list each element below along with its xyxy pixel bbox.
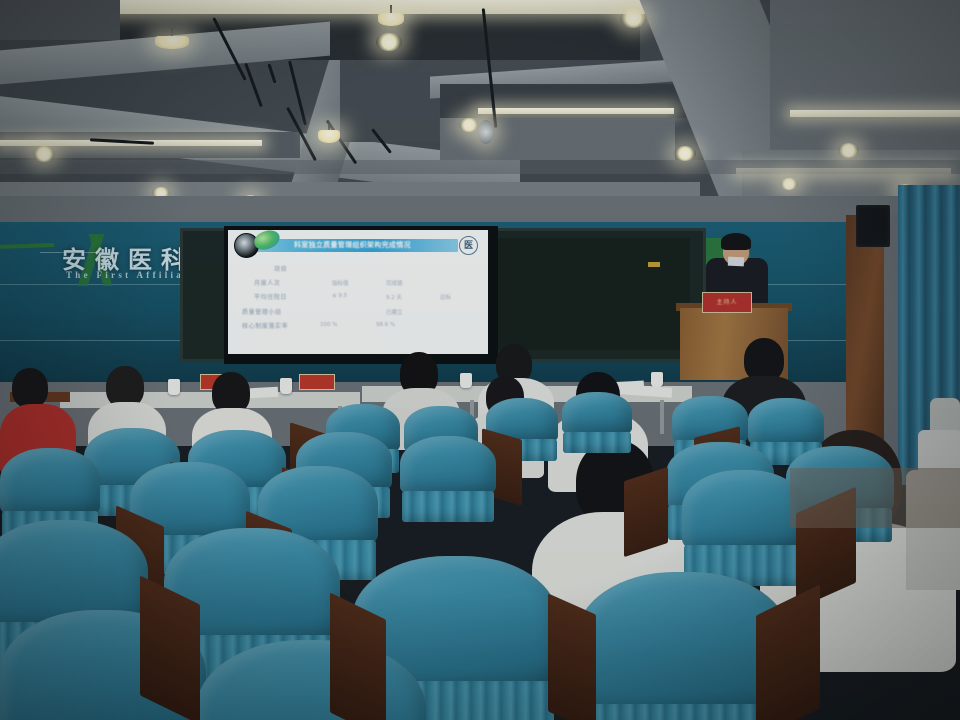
- ceiling-downlight: [838, 143, 859, 158]
- chalk-tray-marker: [648, 262, 660, 267]
- ceiling-downlight: [33, 146, 55, 162]
- slide-row-label: 平均住院日: [254, 292, 287, 301]
- projection-screen: 科室独立质量管理组织架构完成情况 医 项目 月度人次 指标值 完成值 平均住院日…: [224, 226, 498, 364]
- ceiling-downlight: [674, 146, 696, 161]
- ceiling-downlight: [376, 33, 402, 51]
- attendee-head: [12, 368, 48, 408]
- slide-row-label: 月度人次: [254, 278, 280, 287]
- podium-nameplate: 主持人: [702, 292, 752, 313]
- slide-cell: 达标: [440, 293, 451, 301]
- slide-logo-right-icon: 医: [459, 236, 478, 255]
- table-leg: [660, 400, 664, 434]
- slide-cell: 9.2 天: [386, 293, 402, 301]
- ceiling-downlight: [780, 178, 798, 190]
- slide-cell: 已建立: [386, 308, 403, 316]
- slide-cell: 98.6 %: [376, 322, 395, 328]
- slide-cell: 完成值: [386, 279, 403, 287]
- slide-content: 科室独立质量管理组织架构完成情况 医 项目 月度人次 指标值 完成值 平均住院日…: [228, 230, 488, 354]
- ceiling-downlight: [459, 118, 479, 132]
- desk: [624, 467, 668, 557]
- chair: [682, 470, 806, 584]
- conference-hall-photo: FY 安徽医科大学第一附属医院 The First Affiliated Hos…: [0, 0, 960, 720]
- paper-cup: [280, 378, 292, 394]
- ceiling-camera: [478, 120, 494, 144]
- slide-row-label: 核心制度落实率: [242, 321, 288, 330]
- blackboard-right: [470, 238, 690, 350]
- slide-row-label: 项目: [274, 264, 287, 273]
- slide-cell: 100 %: [320, 322, 337, 328]
- speaker-collar: [728, 257, 744, 267]
- chair: [400, 436, 496, 520]
- desk: [548, 593, 596, 720]
- speaker-hair: [721, 233, 751, 250]
- paper-cup: [168, 379, 180, 395]
- wall-speaker: [856, 205, 890, 247]
- chair: [562, 392, 632, 452]
- chair: [196, 640, 426, 720]
- podium-nameplate-text: 主持人: [703, 297, 751, 306]
- ceiling-downlight: [620, 8, 647, 28]
- paper-cup: [460, 373, 472, 388]
- name-placard: [299, 374, 335, 390]
- slide-cell: ≤ 9.5: [332, 293, 347, 299]
- slide-row-label: 质量管理小组: [242, 307, 282, 316]
- paper-cup: [651, 372, 663, 387]
- floor: [790, 468, 960, 528]
- slide-header-title: 科室独立质量管理组织架构完成情况: [294, 240, 411, 250]
- slide-cell: 指标值: [332, 279, 349, 287]
